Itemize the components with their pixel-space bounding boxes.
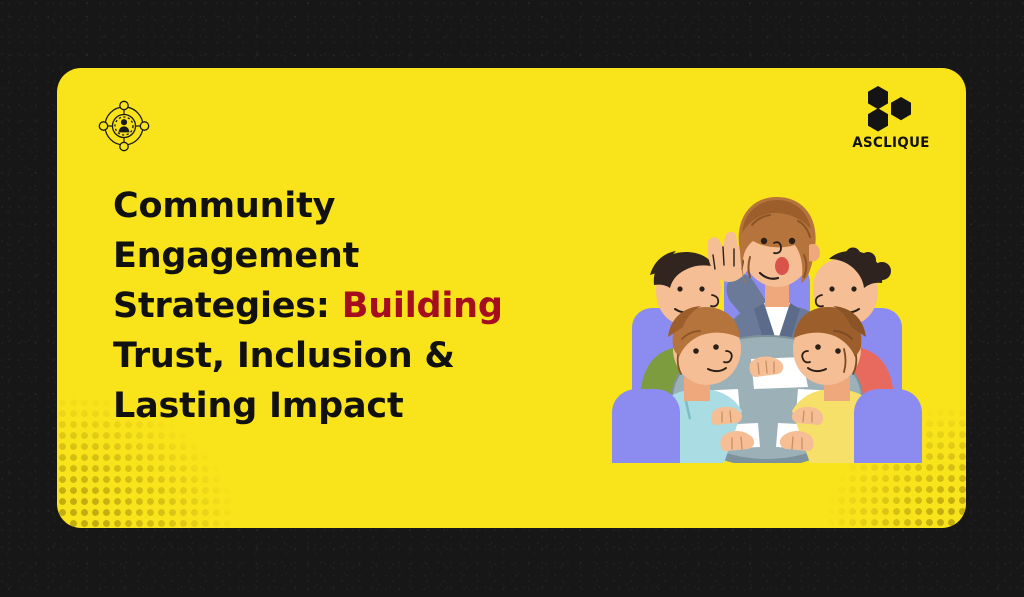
brand-logo: ASCLIQUE bbox=[849, 85, 933, 151]
headline-line-3: Strategies: Building bbox=[113, 281, 583, 331]
headline-line-1: Community bbox=[113, 181, 583, 231]
headline-line-2: Engagement bbox=[113, 231, 583, 281]
headline-line-3-black: Strategies: bbox=[113, 286, 330, 326]
page-title: Community Engagement Strategies: Buildin… bbox=[113, 181, 583, 431]
community-meeting-illustration bbox=[612, 163, 922, 463]
headline-line-4: Trust, Inclusion & bbox=[113, 331, 583, 381]
headline-line-5: Lasting Impact bbox=[113, 381, 583, 431]
community-network-icon bbox=[97, 99, 151, 153]
three-hexagons-icon bbox=[864, 85, 918, 133]
brand-wordmark: ASCLIQUE bbox=[852, 135, 929, 151]
headline-line-3-accent: Building bbox=[342, 286, 503, 326]
hero-card: ASCLIQUE Community Engagement Strategies… bbox=[57, 68, 966, 528]
